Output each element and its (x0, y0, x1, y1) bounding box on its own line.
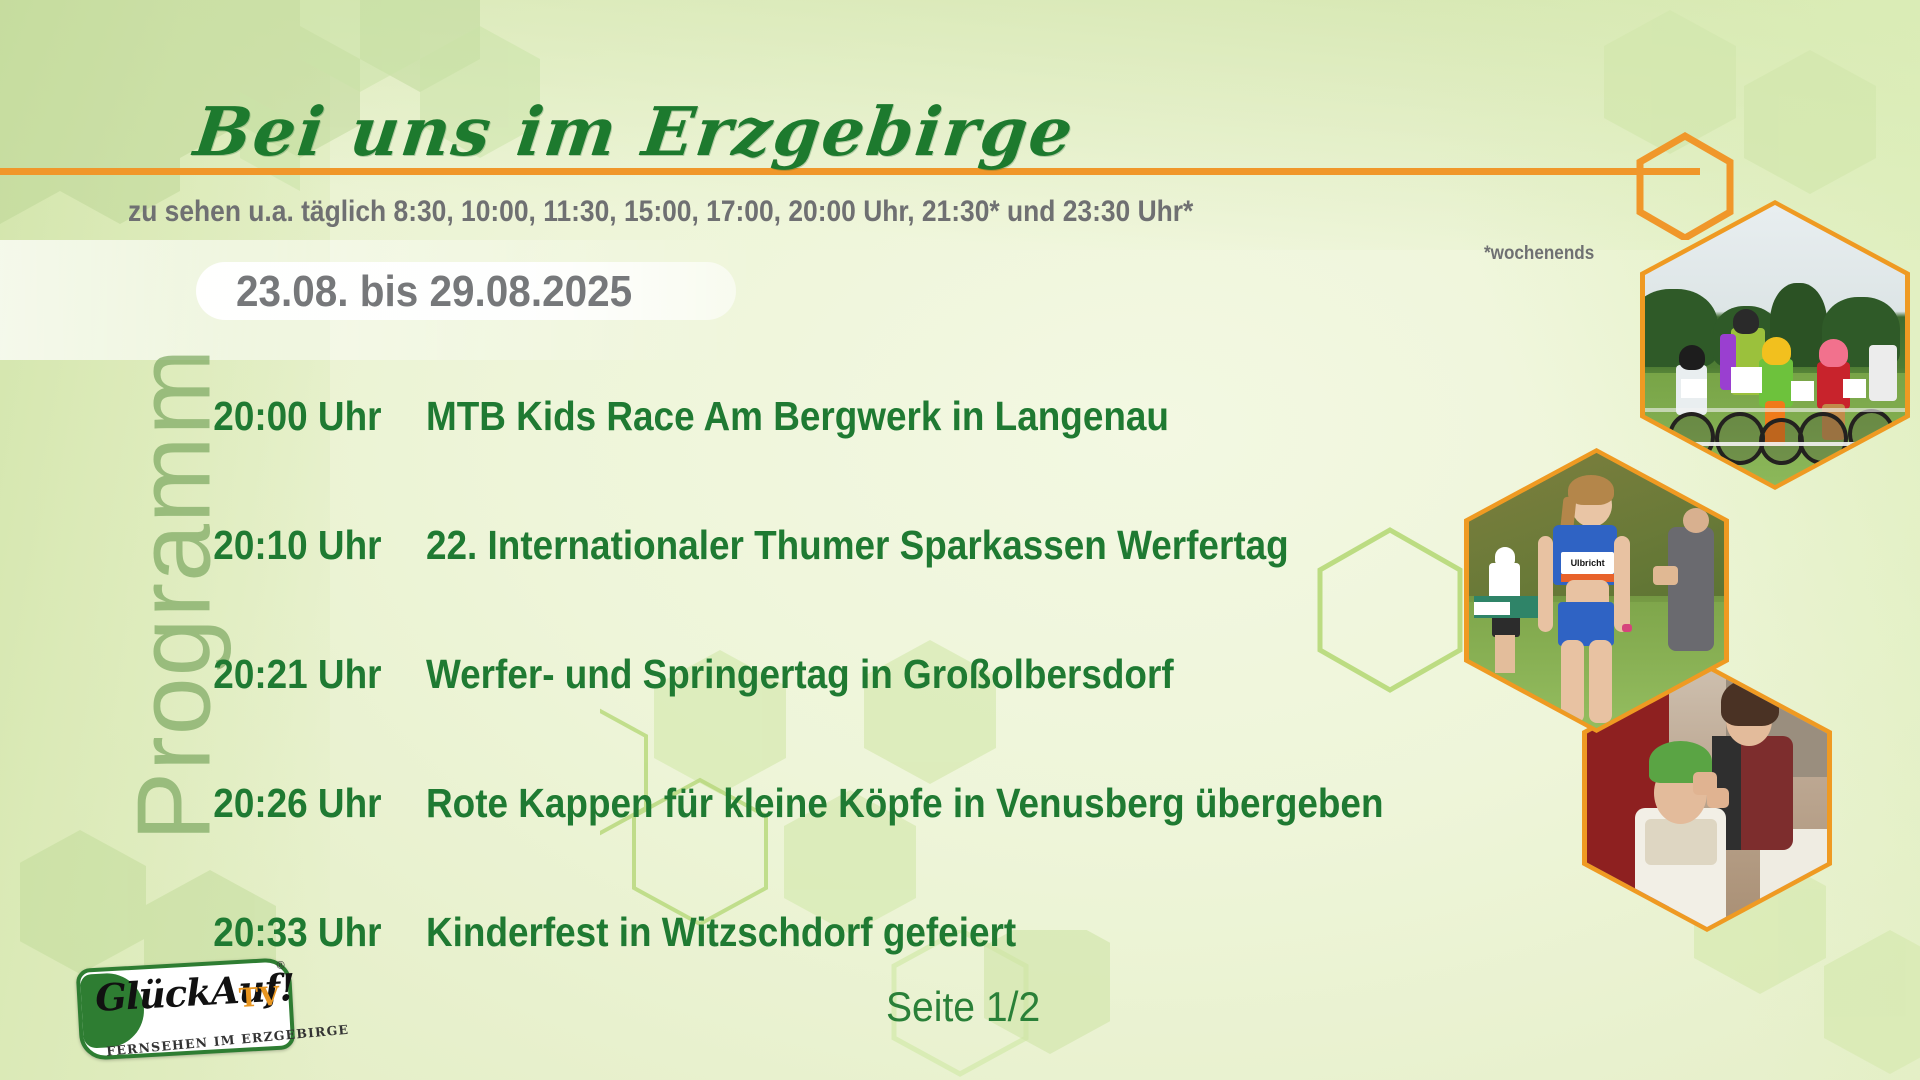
program-row[interactable]: 20:10 Uhr 22. Internationaler Thumer Spa… (0, 481, 1400, 610)
program-time: 20:00 Uhr (0, 393, 407, 440)
logo-tv-mark: TV (238, 982, 281, 1014)
program-time: 20:33 Uhr (0, 909, 407, 956)
page-indicator: Seite 1/2 (886, 983, 1040, 1031)
program-title: Kinderfest in Witzschdorf gefeiert (426, 909, 1016, 956)
program-row[interactable]: 20:00 Uhr MTB Kids Race Am Bergwerk in L… (0, 352, 1400, 481)
logo-registered-icon: ® (276, 959, 285, 971)
program-list: 20:00 Uhr MTB Kids Race Am Bergwerk in L… (0, 352, 1400, 997)
program-time: 20:21 Uhr (0, 651, 407, 698)
photo-hex-image: Ulbricht (1469, 453, 1724, 728)
glueckauf-tv-logo[interactable]: GlückAuf! TV ® FERNSEHEN IM ERZGEBIRGE (76, 957, 296, 1061)
broadcast-schedule-text: zu sehen u.a. täglich 8:30, 10:00, 11:30… (128, 195, 1193, 229)
photo-hex-image (1645, 205, 1905, 485)
program-row[interactable]: 20:26 Uhr Rote Kappen für kleine Köpfe i… (0, 739, 1400, 868)
program-title: MTB Kids Race Am Bergwerk in Langenau (426, 393, 1169, 440)
slide-canvas: Bei uns im Erzgebirge zu sehen u.a. tägl… (0, 0, 1920, 1080)
program-row[interactable]: 20:21 Uhr Werfer- und Springertag in Gro… (0, 610, 1400, 739)
date-range-label: 23.08. bis 29.08.2025 (236, 267, 632, 317)
program-title: Rote Kappen für kleine Köpfe in Venusber… (426, 780, 1384, 827)
program-title: Werfer- und Springertag in Großolbersdor… (426, 651, 1174, 698)
program-title: 22. Internationaler Thumer Sparkassen We… (426, 522, 1289, 569)
photo-mtb-kids-race (1640, 200, 1910, 490)
page-title: Bei uns im Erzgebirge (190, 92, 1079, 171)
program-time: 20:10 Uhr (0, 522, 407, 569)
athlete-bib-number: Ulbricht (1561, 552, 1615, 574)
weekend-footnote: *wochenends (1484, 243, 1594, 265)
program-time: 20:26 Uhr (0, 780, 407, 827)
photo-werfertag-athletin: Ulbricht (1464, 448, 1729, 733)
